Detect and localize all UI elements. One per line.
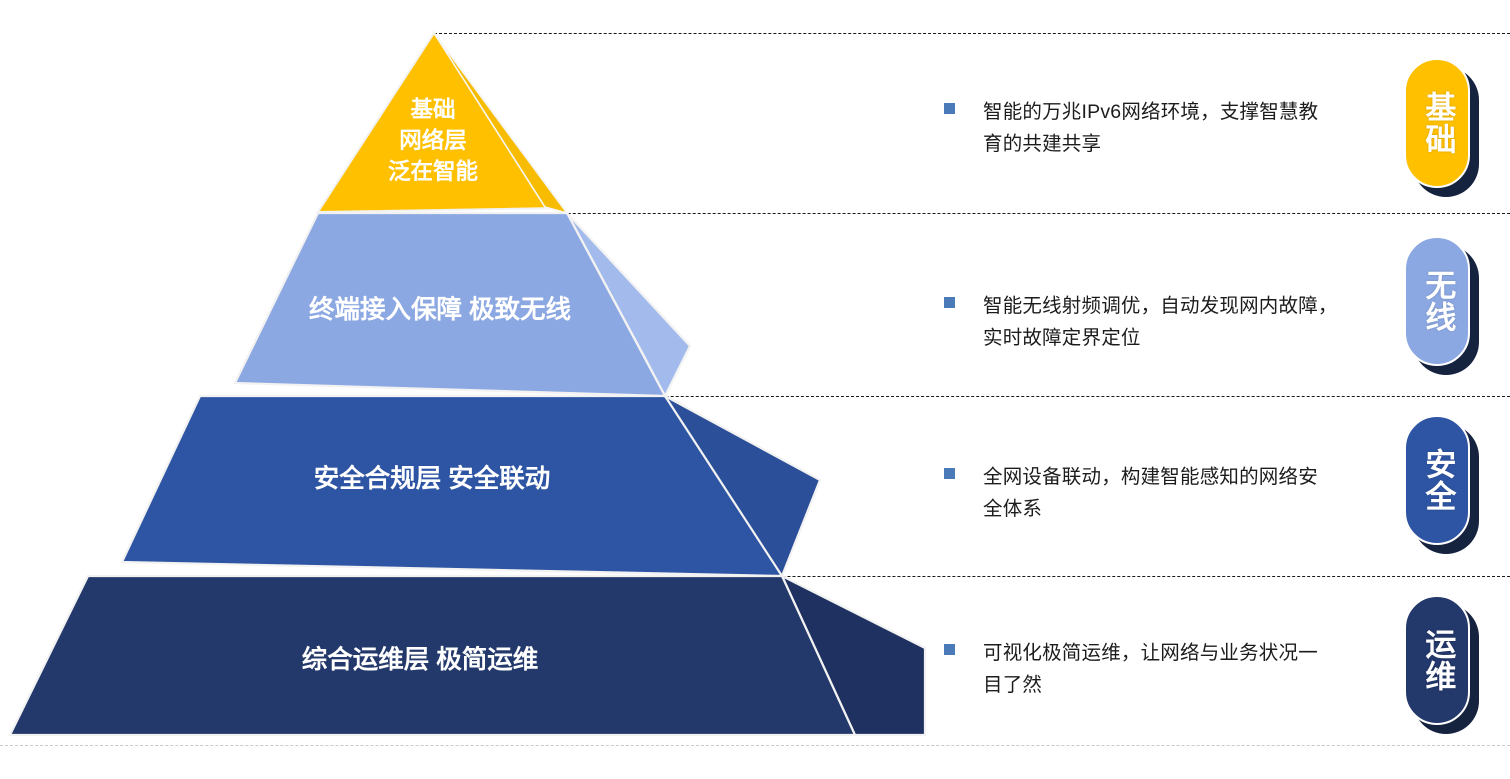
description-line: 全体系 [983,493,1318,525]
description-security: 全网设备联动，构建智能感知的网络安 全体系 [944,461,1374,525]
description-line: 实时故障定界定位 [983,322,1338,354]
tier-foundation-body [318,33,559,212]
description-line: 目了然 [983,669,1318,701]
bullet-square-icon [944,297,955,308]
description-foundation: 智能的万兆IPv6网络环境，支撑智慧教 育的共建共享 [944,96,1374,160]
tier-security-label: 安全合规层 安全联动 [314,464,551,493]
description-line: 智能的万兆IPv6网络环境，支撑智慧教 [983,96,1318,128]
description-wireless-text: 智能无线射频调优，自动发现网内故障， 实时故障定界定位 [983,290,1338,354]
pill-body[interactable]: 基础 [1404,58,1470,188]
diagram-canvas: 综合运维层 极简运维 安全合规层 安全联动 终端接入保障 极致无线 [0,0,1510,779]
description-wireless: 智能无线射频调优，自动发现网内故障， 实时故障定界定位 [944,290,1374,354]
pill-security[interactable]: 安全 [1404,415,1470,545]
pill-label: 运维 [1421,628,1454,692]
pill-label: 基础 [1421,91,1454,155]
description-line: 可视化极简运维，让网络与业务状况一 [983,637,1318,669]
description-foundation-text: 智能的万兆IPv6网络环境，支撑智慧教 育的共建共享 [983,96,1318,160]
pill-operations[interactable]: 运维 [1404,595,1470,725]
pill-body[interactable]: 运维 [1404,595,1470,725]
pill-body[interactable]: 无线 [1404,236,1470,366]
pyramid-graphic: 综合运维层 极简运维 安全合规层 安全联动 终端接入保障 极致无线 [0,0,960,779]
bullet-square-icon [944,468,955,479]
pyramid-tier-wireless[interactable]: 终端接入保障 极致无线 [235,213,690,396]
pyramid-tier-foundation[interactable]: 基础 网络层 泛在智能 [318,33,567,213]
tier-operations-label: 综合运维层 极简运维 [302,645,539,674]
description-line: 育的共建共享 [983,128,1318,160]
pill-foundation[interactable]: 基础 [1404,58,1470,188]
pill-label: 无线 [1421,269,1454,333]
pill-wireless[interactable]: 无线 [1404,236,1470,366]
tier-foundation-label-line1: 基础 [410,97,455,122]
pyramid-tier-operations[interactable]: 综合运维层 极简运维 [10,576,925,735]
description-operations: 可视化极简运维，让网络与业务状况一 目了然 [944,637,1374,701]
bullet-square-icon [944,103,955,114]
tier-foundation-label-line3: 泛在智能 [388,158,479,184]
description-security-text: 全网设备联动，构建智能感知的网络安 全体系 [983,461,1318,525]
tier-foundation-label-line2: 网络层 [399,127,467,153]
description-line: 全网设备联动，构建智能感知的网络安 [983,461,1318,493]
pyramid-tier-security[interactable]: 安全合规层 安全联动 [122,396,820,576]
description-operations-text: 可视化极简运维，让网络与业务状况一 目了然 [983,637,1318,701]
bullet-square-icon [944,644,955,655]
tier-wireless-label: 终端接入保障 极致无线 [309,295,572,324]
pill-label: 安全 [1421,448,1454,512]
description-line: 智能无线射频调优，自动发现网内故障， [983,290,1338,322]
pill-body[interactable]: 安全 [1404,415,1470,545]
